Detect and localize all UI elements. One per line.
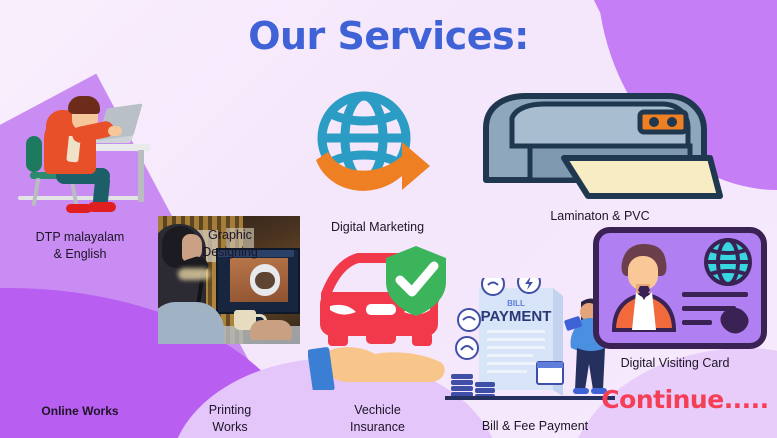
caption-line-1: Bill & Fee Payment: [482, 419, 588, 433]
caption-line-2: Works: [212, 420, 247, 434]
service-icon-digital-marketing: [306, 86, 434, 206]
service-caption-digital-marketing: Digital Marketing: [300, 216, 455, 236]
continue-text: Continue.....: [600, 385, 770, 414]
page-title: Our Services:: [0, 14, 777, 58]
bill-payment-illustration: BILL PAYMENT: [445, 278, 615, 406]
laminator-machine-icon: [472, 84, 724, 212]
service-icon-laminator: [472, 84, 724, 212]
bill-heading-small: BILL: [507, 299, 525, 308]
caption-line-1: Online Works: [41, 404, 118, 418]
poster-canvas: Our Services: DTP malayalam & English Gr…: [0, 0, 777, 438]
service-caption-dtp: DTP malayalam & English: [0, 226, 160, 263]
caption-line-1: Printing: [209, 403, 251, 417]
caption-line-2: Insurance: [350, 420, 405, 434]
visiting-card-icon: [592, 226, 768, 350]
caption-line-1: Laminaton & PVC: [550, 209, 649, 223]
service-caption-bill-payment: Bill & Fee Payment: [440, 415, 630, 435]
caption-line-2: & English: [54, 247, 107, 261]
caption-line-1: Digital Visiting Card: [621, 356, 730, 370]
service-image-bill-payment: BILL PAYMENT: [445, 278, 615, 406]
service-caption-online-works: Online Works: [0, 400, 160, 419]
service-caption-digital-visiting-card: Digital Visiting Card: [580, 352, 770, 372]
service-icon-digital-visiting-card: [592, 226, 768, 350]
caption-line-1: Vechicle: [354, 403, 401, 417]
caption-line-1: Graphic: [208, 228, 252, 242]
car-shield-hand-icon: [308, 240, 448, 390]
service-caption-laminator: Laminaton & PVC: [500, 205, 700, 225]
service-caption-printing-works: Printing Works: [155, 399, 305, 436]
globe-arrow-icon: [306, 86, 434, 206]
service-caption-graphic-designing: Graphic Designing: [155, 224, 305, 261]
service-image-dtp: [10, 88, 150, 216]
service-caption-vehicle-insurance: Vechicle Insurance: [305, 399, 450, 436]
card-globe-icon: [706, 240, 750, 284]
calendar-icon: [537, 362, 563, 384]
bill-heading-large: PAYMENT: [481, 308, 552, 325]
caption-line-2: Designing: [202, 245, 258, 259]
caption-line-1: Digital Marketing: [331, 220, 424, 234]
open-hand-icon: [308, 347, 445, 390]
caption-line-1: DTP malayalam: [36, 230, 125, 244]
service-icon-vehicle-insurance: [308, 240, 448, 390]
orange-arrow-shape: [316, 142, 430, 191]
